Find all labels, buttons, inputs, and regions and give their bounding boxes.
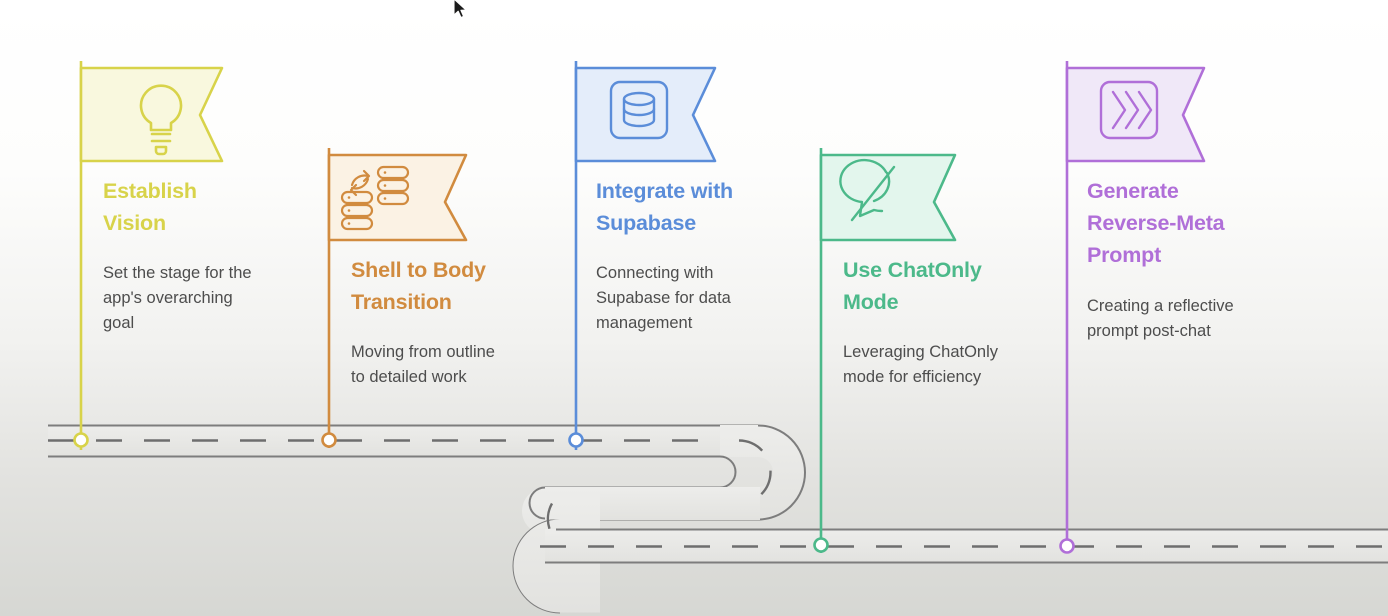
milestone-marker[interactable]: [1061, 540, 1074, 553]
milestone-title: Use ChatOnly Mode: [843, 255, 1053, 319]
milestone-description: Leveraging ChatOnly mode for efficiency: [843, 340, 1058, 390]
roadmap-diagram: Establish Vision Set the stage for the a…: [0, 0, 1388, 616]
milestone-marker[interactable]: [570, 434, 583, 447]
milestone-description: Creating a reflective prompt post-chat: [1087, 294, 1297, 344]
milestone-title: Establish Vision: [103, 176, 303, 240]
milestone-description: Set the stage for the app's overarching …: [103, 261, 308, 336]
flag-banner: [821, 155, 955, 240]
milestone-title: Integrate with Supabase: [596, 176, 811, 240]
milestone-title: Shell to Body Transition: [351, 255, 561, 319]
milestone-marker[interactable]: [323, 434, 336, 447]
mouse-pointer-icon: [452, 0, 470, 22]
flag-integrate-with-supabase: [565, 58, 735, 458]
milestone-marker[interactable]: [815, 539, 828, 552]
milestone-marker[interactable]: [75, 434, 88, 447]
flag-establish-vision: [70, 58, 240, 458]
milestone-description: Connecting with Supabase for data manage…: [596, 261, 801, 336]
milestone-title: Generate Reverse-Meta Prompt: [1087, 176, 1302, 271]
flag-banner: [81, 68, 222, 161]
milestone-description: Moving from outline to detailed work: [351, 340, 561, 390]
